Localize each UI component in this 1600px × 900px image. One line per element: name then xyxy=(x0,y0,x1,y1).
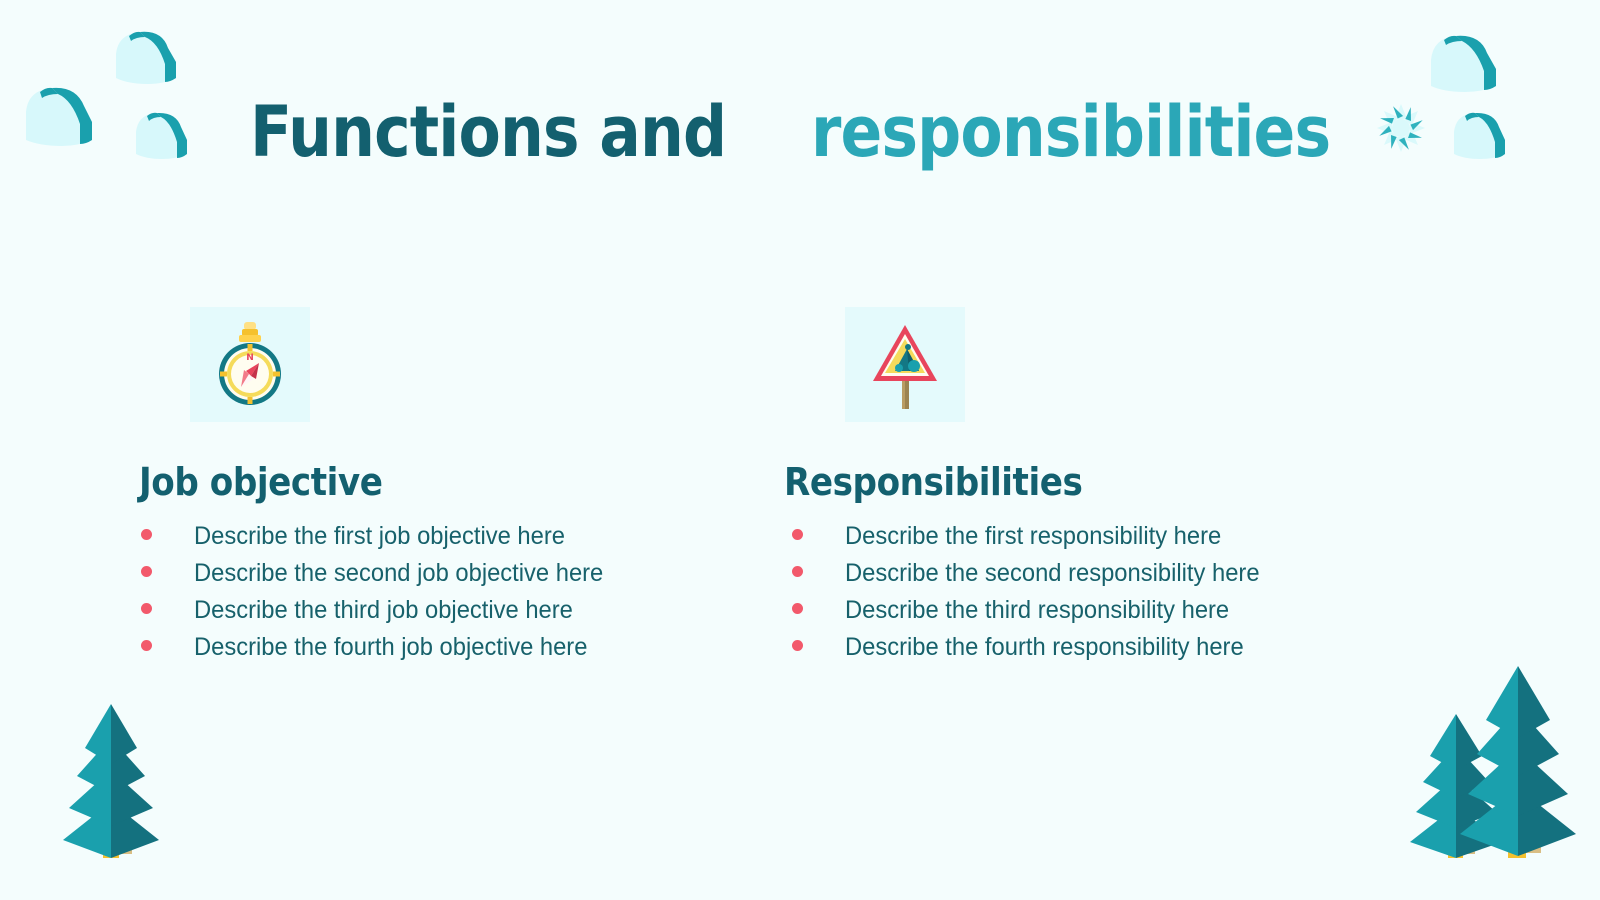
list-item: Describe the fourth job objective here xyxy=(135,633,755,670)
column-responsibilities: Responsibilities Describe the first resp… xyxy=(780,307,1400,670)
list-item: Describe the third responsibility here xyxy=(780,596,1400,633)
icon-box-responsibilities xyxy=(845,307,965,422)
svg-text:N: N xyxy=(246,353,254,363)
page-title-light-part: responsibilities xyxy=(811,97,1330,167)
list-item: Describe the second responsibility here xyxy=(780,559,1400,596)
pine-tree-bottom-right-large xyxy=(1450,650,1590,860)
bullet-dot-icon xyxy=(792,603,803,614)
bullet-text: Describe the first job objective here xyxy=(194,522,565,551)
icon-box-job-objective: N xyxy=(190,307,310,422)
cloud-top-left-small xyxy=(131,104,199,162)
column-heading-responsibilities: Responsibilities xyxy=(784,460,1338,504)
compass-icon: N xyxy=(213,320,287,410)
bullet-text: Describe the second job objective here xyxy=(194,559,603,588)
warning-road-sign-icon xyxy=(869,319,941,411)
bullet-text: Describe the fourth responsibility here xyxy=(845,633,1244,662)
bullet-text: Describe the third responsibility here xyxy=(845,596,1229,625)
bullet-dot-icon xyxy=(141,529,152,540)
bullet-text: Describe the second responsibility here xyxy=(845,559,1260,588)
pine-tree-bottom-right-small xyxy=(1398,700,1518,860)
slide-canvas: Functions and responsibilities xyxy=(0,0,1600,900)
cloud-top-left-large xyxy=(18,78,108,148)
pine-tree-bottom-left xyxy=(55,690,167,860)
bullet-dot-icon xyxy=(792,529,803,540)
bullet-dot-icon xyxy=(792,640,803,651)
bullet-dot-icon xyxy=(141,640,152,651)
column-job-objective: N Job objective Describe the first job o… xyxy=(135,307,755,670)
bullet-list-job-objective: Describe the first job objective here De… xyxy=(135,522,755,670)
page-title: Functions and responsibilities xyxy=(250,92,1370,172)
list-item: Describe the second job objective here xyxy=(135,559,755,596)
bullet-text: Describe the first responsibility here xyxy=(845,522,1221,551)
cloud-top-right-large xyxy=(1424,26,1512,96)
snowflake-top-right xyxy=(1375,100,1427,156)
page-title-dark-part: Functions and xyxy=(250,97,726,167)
list-item: Describe the third job objective here xyxy=(135,596,755,633)
list-item: Describe the first responsibility here xyxy=(780,522,1400,559)
cloud-top-right-small xyxy=(1449,104,1517,162)
bullet-dot-icon xyxy=(141,566,152,577)
bullet-list-responsibilities: Describe the first responsibility here D… xyxy=(780,522,1400,670)
bullet-text: Describe the third job objective here xyxy=(194,596,573,625)
cloud-top-left-medium xyxy=(110,22,190,86)
list-item: Describe the fourth responsibility here xyxy=(780,633,1400,670)
bullet-dot-icon xyxy=(141,603,152,614)
bullet-dot-icon xyxy=(792,566,803,577)
bullet-text: Describe the fourth job objective here xyxy=(194,633,587,662)
column-heading-job-objective: Job objective xyxy=(139,460,693,504)
list-item: Describe the first job objective here xyxy=(135,522,755,559)
